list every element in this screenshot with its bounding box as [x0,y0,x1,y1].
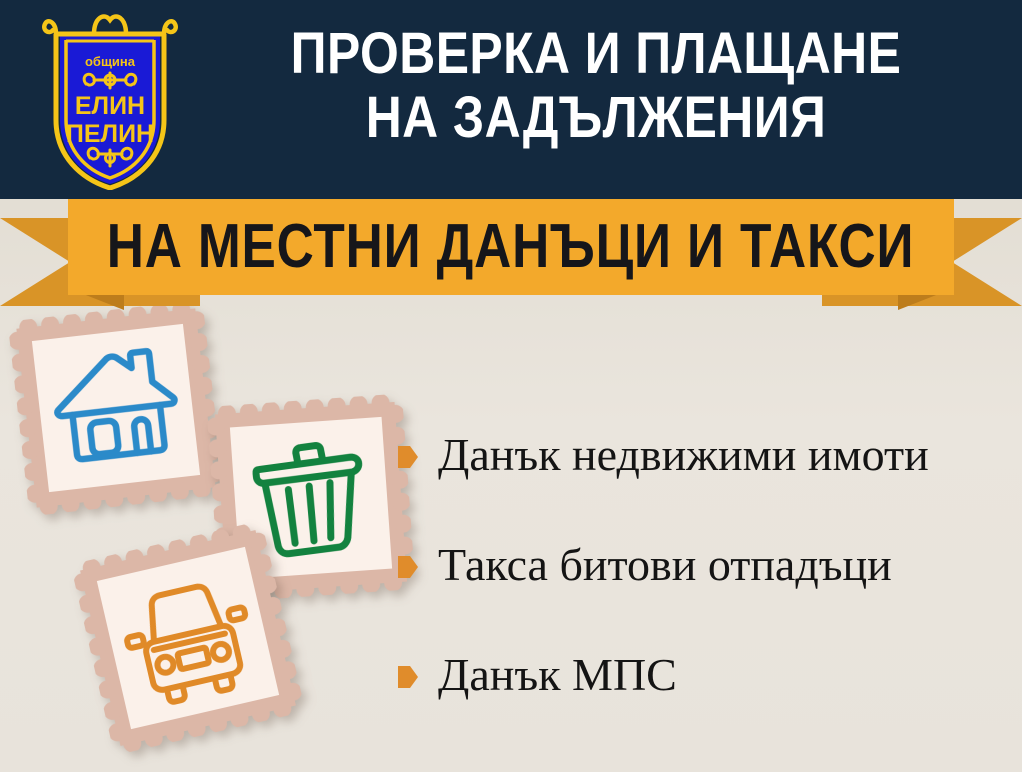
stamp-card-property [8,300,225,517]
header-bar: община ЕЛИН ПЕЛИН [0,0,1022,199]
stamp-card-group [0,300,420,772]
crest-name-line-1: ЕЛИН [75,92,145,120]
crest-name-line-2: ПЕЛИН [66,120,154,148]
ribbon-label: НА МЕСТНИ ДАНЪЦИ И ТАКСИ [107,216,915,278]
title-line-2: НА ЗАДЪЛЖЕНИЯ [243,86,948,150]
house-icon [32,324,200,492]
list-item[interactable]: Данък МПС [398,644,1018,706]
list-item-label: Такса битови отпадъци [438,539,892,591]
arrow-bullet-icon [398,446,418,468]
ribbon-panel: НА МЕСТНИ ДАНЪЦИ И ТАКСИ [68,199,954,295]
crest-small-text: община [85,54,136,69]
list-item-label: Данък недвижими имоти [438,429,929,481]
arrow-bullet-icon [398,666,418,688]
list-item[interactable]: Данък недвижими имоти [398,424,1018,486]
list-item-label: Данък МПС [438,649,677,701]
list-item[interactable]: Такса битови отпадъци [398,534,1018,596]
poster-root: община ЕЛИН ПЕЛИН [0,0,1022,772]
poster-title: ПРОВЕРКА И ПЛАЩАНЕ НА ЗАДЪЛЖЕНИЯ [186,22,1006,150]
municipality-crest: община ЕЛИН ПЕЛИН [36,8,184,190]
title-line-1: ПРОВЕРКА И ПЛАЩАНЕ [243,22,948,86]
ribbon-banner: НА МЕСТНИ ДАНЪЦИ И ТАКСИ [0,199,1022,309]
arrow-bullet-icon [398,556,418,578]
tax-type-list: Данък недвижими имоти Такса битови отпад… [398,424,1018,754]
